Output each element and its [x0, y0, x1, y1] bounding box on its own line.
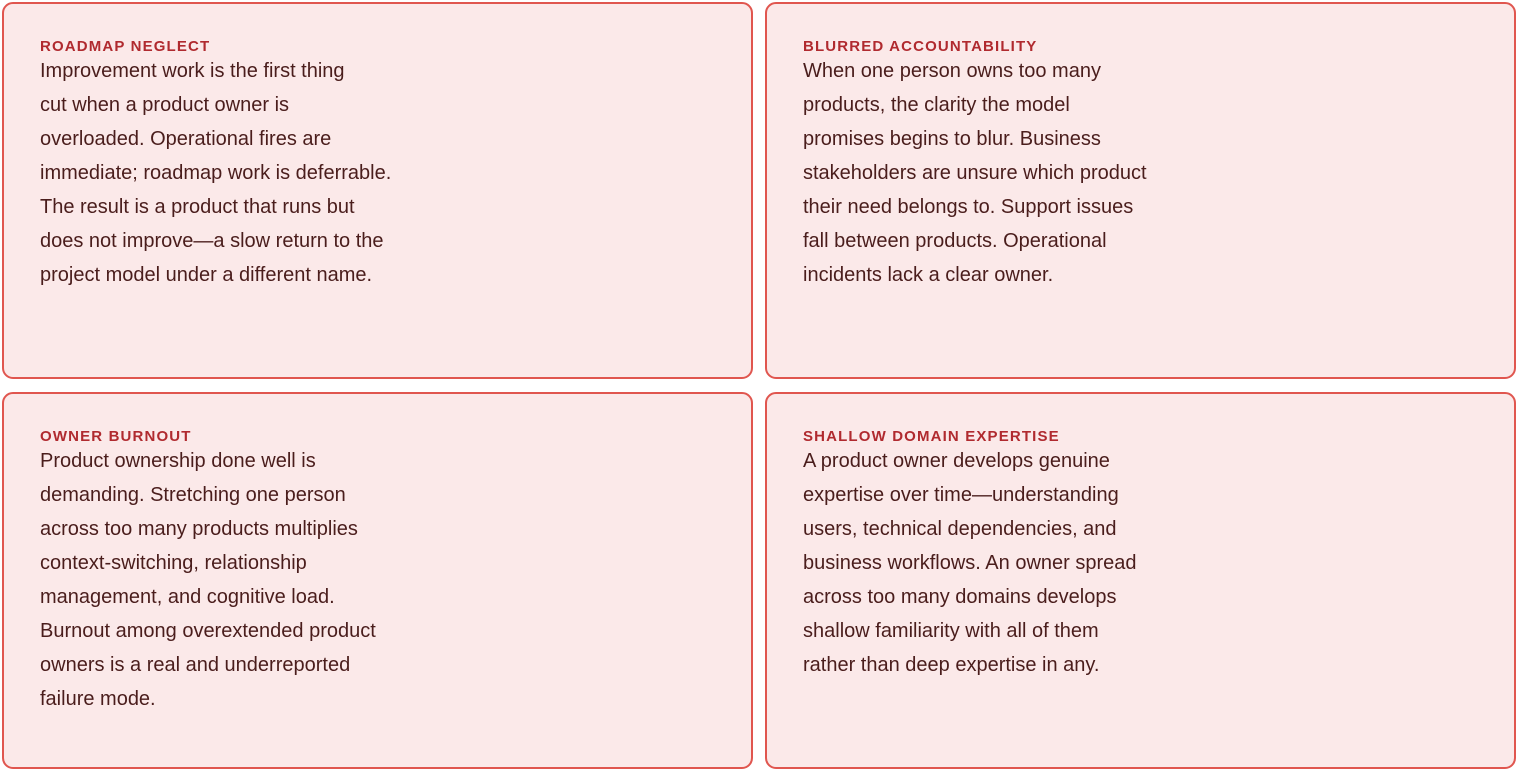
- card-body: A product owner develops genuine experti…: [803, 444, 1478, 682]
- card-owner-burnout: OWNER BURNOUT Product ownership done wel…: [2, 392, 753, 769]
- card-title: ROADMAP NEGLECT: [40, 38, 715, 55]
- card-title: SHALLOW DOMAIN EXPERTISE: [803, 428, 1478, 445]
- card-title: OWNER BURNOUT: [40, 428, 715, 445]
- risk-card-grid: ROADMAP NEGLECT Improvement work is the …: [0, 0, 1520, 774]
- card-roadmap-neglect: ROADMAP NEGLECT Improvement work is the …: [2, 2, 753, 379]
- card-shallow-domain-expertise: SHALLOW DOMAIN EXPERTISE A product owner…: [765, 392, 1516, 769]
- card-blurred-accountability: BLURRED ACCOUNTABILITY When one person o…: [765, 2, 1516, 379]
- card-body: Product ownership done well is demanding…: [40, 444, 715, 716]
- card-title: BLURRED ACCOUNTABILITY: [803, 38, 1478, 55]
- card-body: Improvement work is the first thing cut …: [40, 54, 715, 292]
- card-body: When one person owns too many products, …: [803, 54, 1478, 292]
